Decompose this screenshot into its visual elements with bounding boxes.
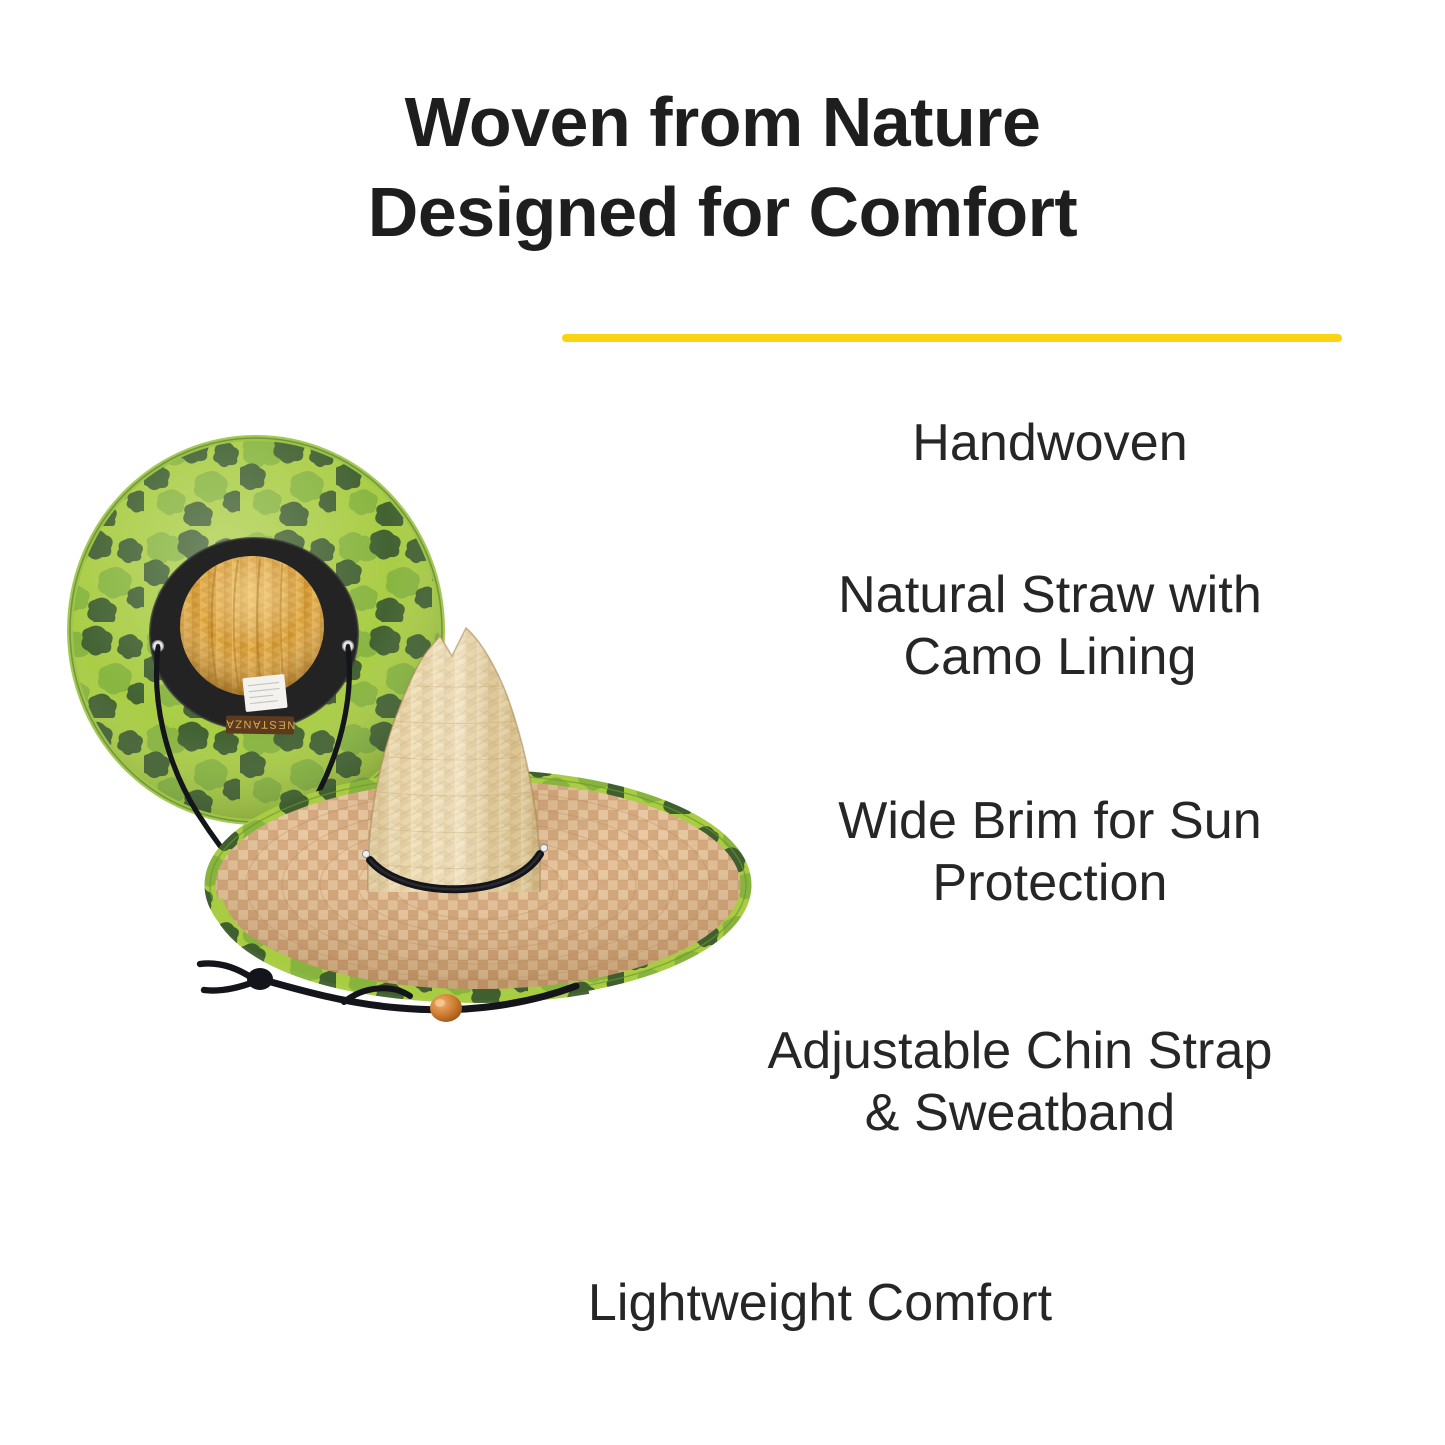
care-tag — [242, 674, 287, 712]
feature-item-lightweight-comfort: Lightweight Comfort — [470, 1272, 1170, 1334]
brand-label: NESTANZA — [225, 715, 296, 734]
chin-strap-bead-highlight — [435, 999, 445, 1007]
feature-5-line-1: Lightweight Comfort — [470, 1272, 1170, 1334]
feature-item-handwoven: Handwoven — [700, 412, 1400, 474]
feature-2-line-1: Natural Straw with — [700, 564, 1400, 626]
title-divider-rule — [562, 334, 1342, 342]
chin-strap-bead — [430, 994, 462, 1022]
feature-4-line-2: & Sweatband — [670, 1082, 1370, 1144]
feature-4-line-1: Adjustable Chin Strap — [670, 1020, 1370, 1082]
product-photo: NESTANZA — [48, 430, 788, 1050]
feature-1-line-1: Handwoven — [700, 412, 1400, 474]
feature-item-natural-straw-camo-lining: Natural Straw with Camo Lining — [700, 564, 1400, 689]
infographic-page: Woven from Nature Designed for Comfort — [0, 0, 1445, 1445]
feature-item-wide-brim-sun-protection: Wide Brim for Sun Protection — [700, 790, 1400, 915]
page-title: Woven from Nature Designed for Comfort — [0, 78, 1445, 257]
feature-3-line-2: Protection — [700, 852, 1400, 914]
crown-interior-shading — [180, 556, 324, 696]
chin-strap-tail-upper — [200, 964, 252, 978]
chin-strap-tail-lower — [204, 982, 254, 991]
product-photo-illustration: NESTANZA — [48, 430, 788, 1050]
page-title-line-1: Woven from Nature — [0, 78, 1445, 168]
chin-strap-knot — [247, 968, 273, 990]
feature-3-line-1: Wide Brim for Sun — [700, 790, 1400, 852]
brand-label-text: NESTANZA — [225, 717, 296, 730]
feature-item-adjustable-chin-strap-sweatband: Adjustable Chin Strap & Sweatband — [670, 1020, 1370, 1145]
feature-2-line-2: Camo Lining — [700, 626, 1400, 688]
page-title-line-2: Designed for Comfort — [0, 168, 1445, 258]
